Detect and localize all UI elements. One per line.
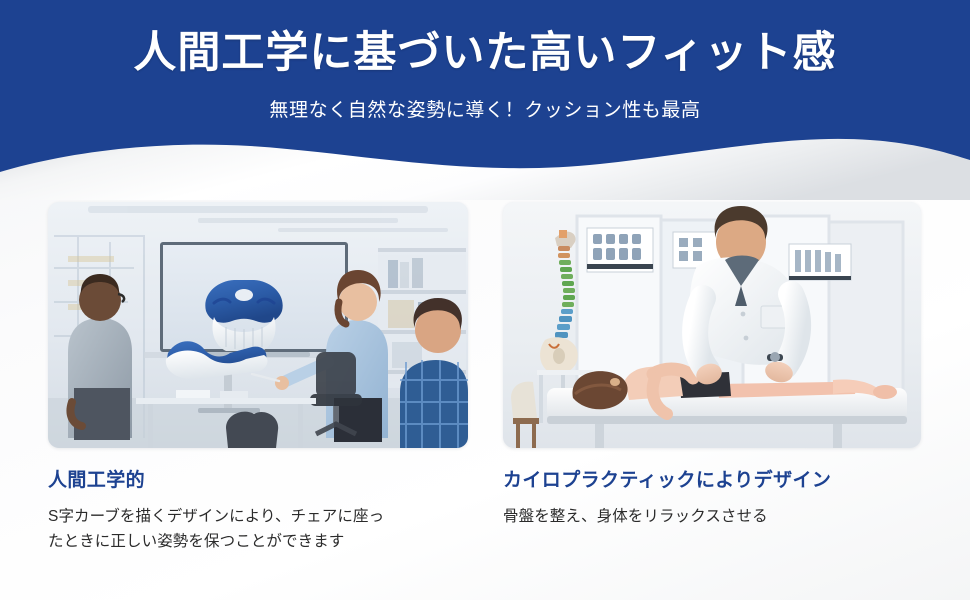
- feature-card-ergonomic: 人間工学的 S字カーブを描くデザインにより、チェアに座っ たときに正しい姿勢を保…: [48, 202, 468, 554]
- hero-title: 人間工学に基づいた高いフィット感: [0, 29, 970, 78]
- card-body-line: たときに正しい姿勢を保つことができます: [48, 529, 468, 554]
- hero-header: 人間工学に基づいた高いフィット感 無理なく自然な姿勢に導く！クッション性も最高: [0, 0, 970, 200]
- engineers-presentation-illustration: [48, 202, 468, 448]
- card-body-line: S字カーブを描くデザインにより、チェアに座っ: [48, 504, 468, 529]
- ergonomic-photo: [48, 202, 468, 448]
- hero-wave-divider: [0, 120, 970, 200]
- card-body-line: 骨盤を整え、身体をリラックスさせる: [503, 504, 921, 529]
- chiropractor-treatment-illustration: [503, 202, 921, 448]
- hero-subtitle: 無理なく自然な姿勢に導く！クッション性も最高: [0, 95, 970, 122]
- card-body-chiropractic: 骨盤を整え、身体をリラックスさせる: [503, 504, 921, 529]
- feature-cards: 人間工学的 S字カーブを描くデザインにより、チェアに座っ たときに正しい姿勢を保…: [0, 200, 970, 600]
- promo-banner: 人間工学に基づいた高いフィット感 無理なく自然な姿勢に導く！クッション性も最高: [0, 0, 970, 600]
- card-heading-ergonomic: 人間工学的: [48, 470, 468, 493]
- feature-card-chiropractic: カイロプラクティックによりデザイン 骨盤を整え、身体をリラックスさせる: [503, 202, 921, 529]
- card-body-ergonomic: S字カーブを描くデザインにより、チェアに座っ たときに正しい姿勢を保つことができ…: [48, 504, 468, 554]
- card-heading-chiropractic: カイロプラクティックによりデザイン: [503, 470, 921, 493]
- chiropractic-photo: [503, 202, 921, 448]
